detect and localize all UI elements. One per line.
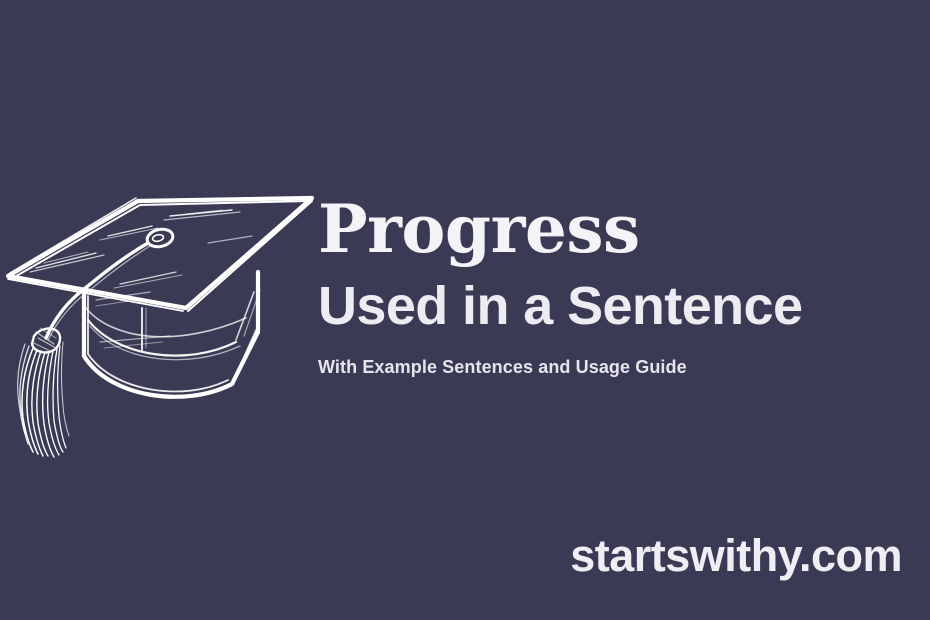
graduation-cap-icon: [0, 180, 320, 460]
text-block: Progress Used in a Sentence With Example…: [318, 196, 910, 378]
poster-canvas: Progress Used in a Sentence With Example…: [0, 0, 930, 620]
brand-watermark: startswithy.com: [570, 530, 902, 582]
page-subtitle-phrase: Used in a Sentence: [318, 278, 910, 335]
page-title-headword: Progress: [318, 196, 910, 262]
page-tagline: With Example Sentences and Usage Guide: [318, 357, 910, 379]
